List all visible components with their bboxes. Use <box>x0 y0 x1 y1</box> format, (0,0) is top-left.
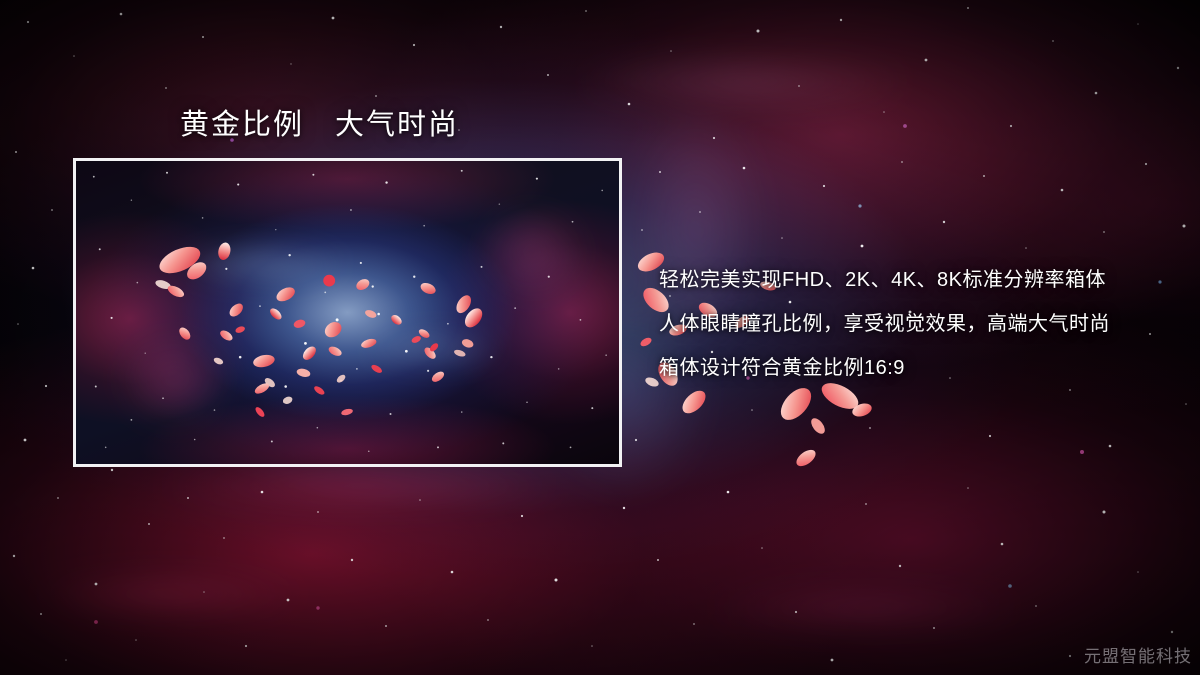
presentation-slide: 黄金比例 大气时尚 轻松完美实现FHD、2K、4K、8K标准分辨率箱体 人体眼睛… <box>0 0 1200 675</box>
body-text-block: 轻松完美实现FHD、2K、4K、8K标准分辨率箱体 人体眼睛瞳孔比例，享受视觉效… <box>659 258 1159 390</box>
rose-petals-icon <box>76 161 619 464</box>
body-line: 人体眼睛瞳孔比例，享受视觉效果，高端大气时尚 <box>659 302 1159 346</box>
body-line: 轻松完美实现FHD、2K、4K、8K标准分辨率箱体 <box>659 258 1159 302</box>
body-line: 箱体设计符合黄金比例16:9 <box>659 346 1159 390</box>
watermark: 元盟智能科技 <box>1084 642 1192 667</box>
page-title: 黄金比例 大气时尚 <box>180 101 459 143</box>
inset-image-frame <box>73 158 622 467</box>
